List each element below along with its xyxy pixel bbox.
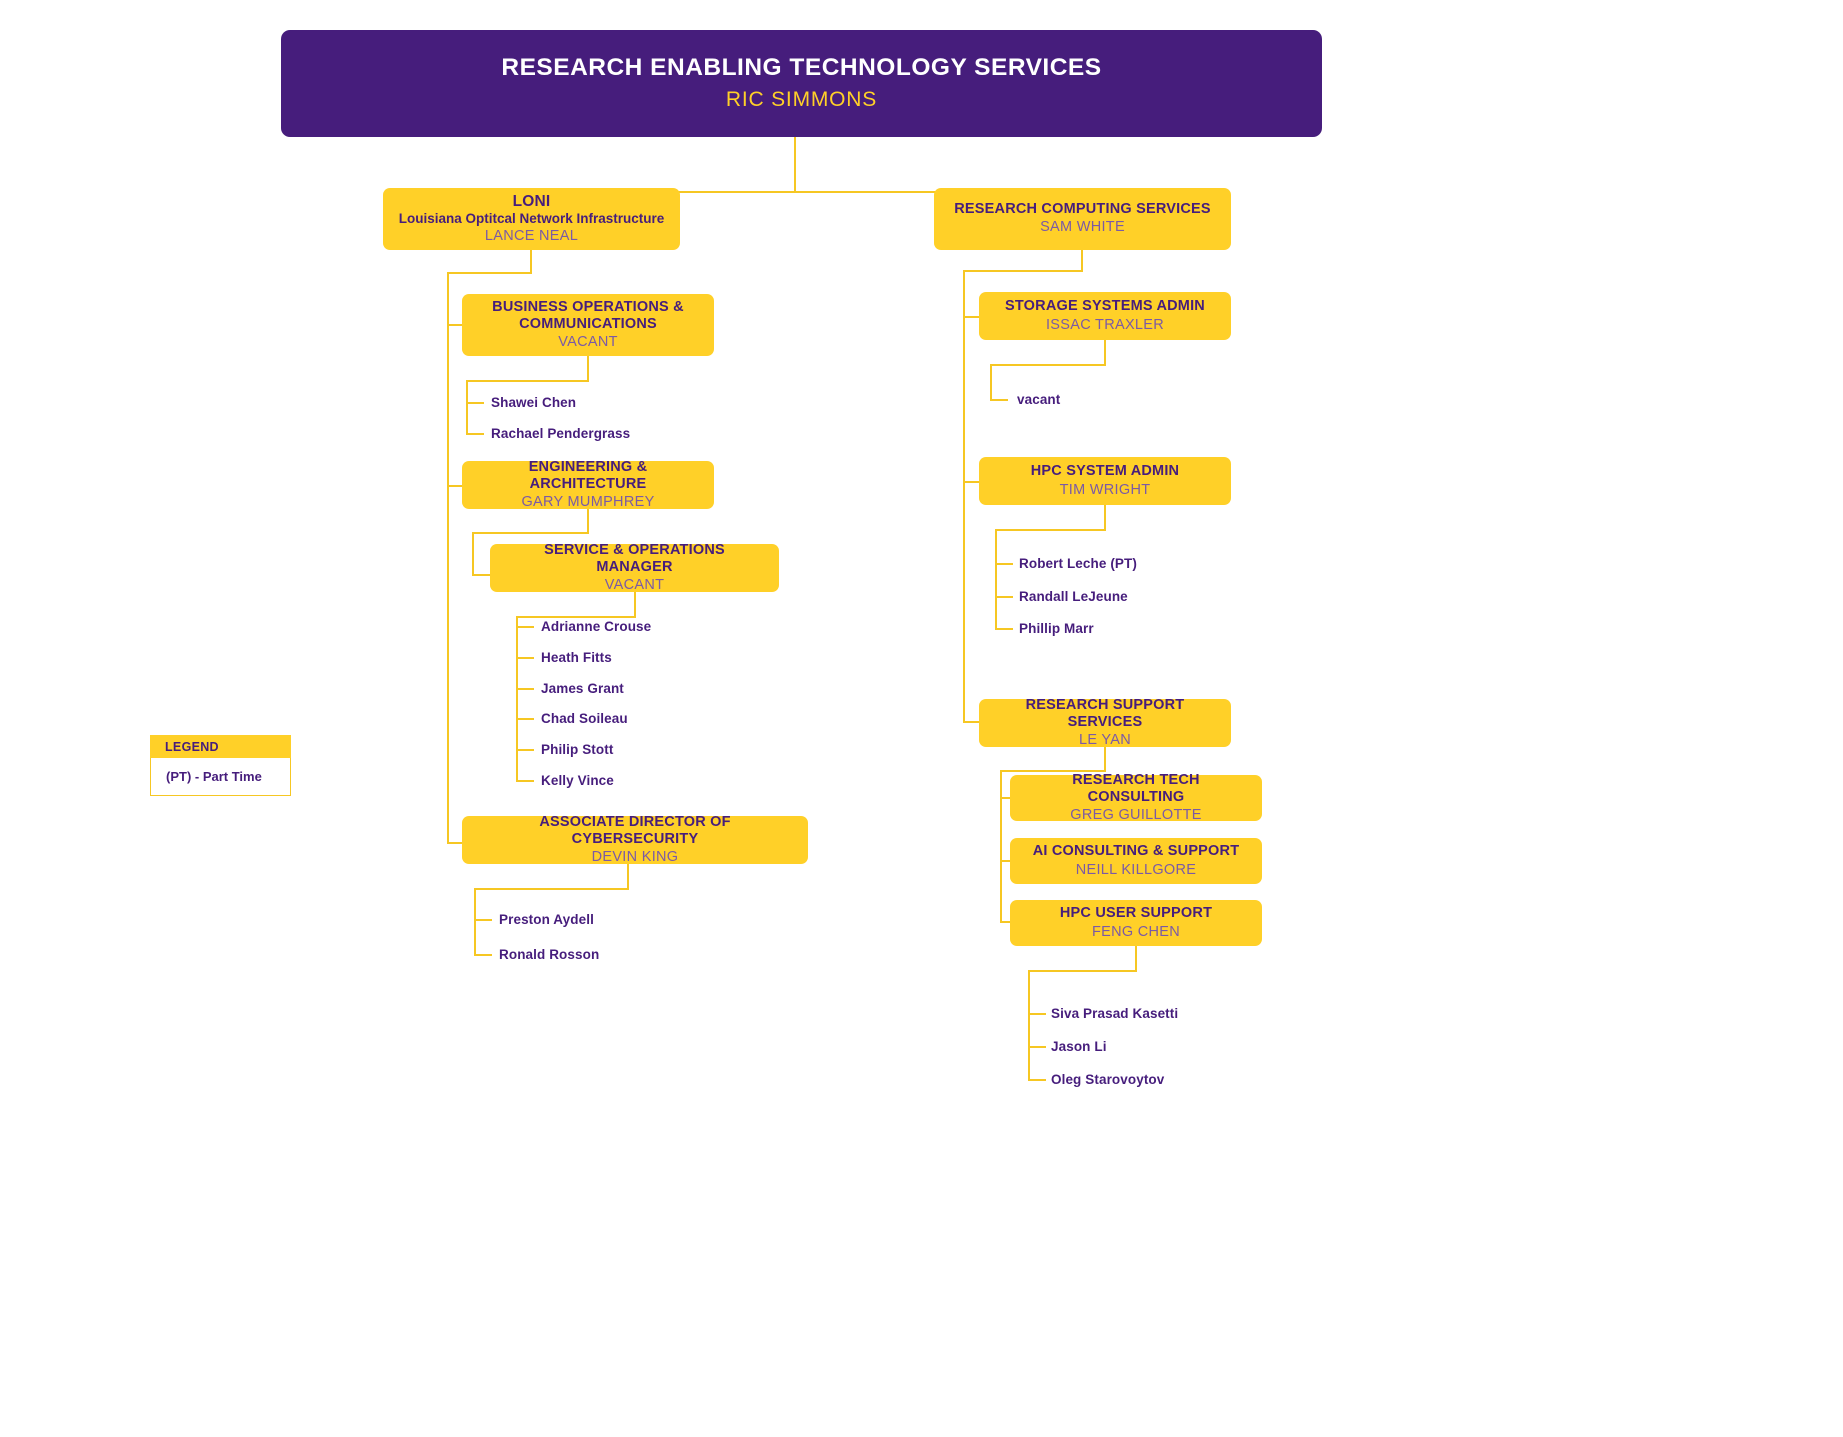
connector-hpcus-leaf-1 [1028,1046,1046,1048]
staff-label: Randall LeJeune [1019,589,1128,604]
storage-title: STORAGE SYSTEMS ADMIN [1005,298,1205,315]
node-research-support-services[interactable]: RESEARCH SUPPORT SERVICES LE YAN [979,699,1231,747]
connector-loni-spine [447,272,449,844]
connector-hpcadmin-spine [995,529,997,630]
connector-eng-drop [587,509,589,533]
staff-label: Oleg Starovoytov [1051,1072,1164,1087]
staff-label: Ronald Rosson [499,947,599,962]
connector-hpcadmin-leaf-2 [995,628,1013,630]
research-support-title: RESEARCH SUPPORT SERVICES [993,697,1217,731]
connector-hpcus-leaf-0 [1028,1013,1046,1015]
connector-storage-leaf-0 [990,399,1008,401]
node-engineering-architecture[interactable]: ENGINEERING & ARCHITECTURE GARY MUMPHREY [462,461,714,509]
staff-label: Robert Leche (PT) [1019,556,1137,571]
connector-loni-spine-top [447,272,532,274]
loni-person: LANCE NEAL [485,227,578,245]
connector-rcs-spine-top [963,270,1083,272]
node-business-operations-communications[interactable]: BUSINESS OPERATIONS & COMMUNICATIONS VAC… [462,294,714,356]
research-support-person: LE YAN [1079,731,1131,749]
connector-rcs-drop [1081,250,1083,272]
connector-cyber-drop [627,864,629,889]
connector-root-stem [794,137,796,192]
bizops-title: BUSINESS OPERATIONS & COMMUNICATIONS [476,299,700,333]
staff-label: Rachael Pendergrass [491,426,630,441]
connector-rss-drop [1104,747,1106,771]
node-loni[interactable]: LONI Louisiana Optitcal Network Infrastr… [383,188,680,250]
research-tech-consulting-person: GREG GUILLOTTE [1070,806,1202,824]
hpc-admin-title: HPC SYSTEM ADMIN [1031,463,1179,480]
rcs-person: SAM WHITE [1040,218,1125,236]
connector-svcops-bus [516,616,636,618]
connector-cyber-leaf-0 [474,919,492,921]
connector-svcops-leaf-4 [516,749,534,751]
node-service-operations-manager[interactable]: SERVICE & OPERATIONS MANAGER VACANT [490,544,779,592]
node-hpc-user-support[interactable]: HPC USER SUPPORT FENG CHEN [1010,900,1262,946]
connector-svcops-leaf-5 [516,780,534,782]
ai-consulting-person: NEILL KILLGORE [1076,861,1197,879]
connector-hpcadmin-leaf-0 [995,563,1013,565]
connector-svcops-leaf-0 [516,626,534,628]
connector-cyber-bus [474,888,629,890]
cybersecurity-person: DEVIN KING [592,848,679,866]
connector-eng-to-svcops [472,574,492,576]
staff-label: Adrianne Crouse [541,619,651,634]
storage-person: ISSAC TRAXLER [1046,316,1164,334]
staff-label: Preston Aydell [499,912,594,927]
node-research-enabling-technology-services[interactable]: RESEARCH ENABLING TECHNOLOGY SERVICES RI… [281,30,1322,137]
node-research-tech-consulting[interactable]: RESEARCH TECH CONSULTING GREG GUILLOTTE [1010,775,1262,821]
connector-eng-spine [472,532,474,576]
connector-eng-bus [472,532,589,534]
loni-title: LONI [513,193,551,211]
connector-hpcadmin-bus [995,529,1106,531]
hpc-user-support-title: HPC USER SUPPORT [1060,905,1212,922]
svcops-person: VACANT [605,576,665,594]
connector-bizops-leaf-1 [466,433,484,435]
connector-hpcus-drop [1135,946,1137,971]
legend-heading-text: LEGEND [165,740,219,754]
connector-bizops-bus [466,380,589,382]
connector-storage-drop [1104,340,1106,365]
connector-rss-spine [1000,770,1002,923]
staff-label: Phillip Marr [1019,621,1094,636]
connector-hpcus-leaf-2 [1028,1079,1046,1081]
node-research-computing-services[interactable]: RESEARCH COMPUTING SERVICES SAM WHITE [934,188,1231,250]
hpc-user-support-person: FENG CHEN [1092,923,1180,941]
connector-svcops-leaf-3 [516,718,534,720]
staff-label: Siva Prasad Kasetti [1051,1006,1178,1021]
connector-bizops-leaf-0 [466,402,484,404]
staff-label: Chad Soileau [541,711,628,726]
root-person: RIC SIMMONS [726,87,877,113]
legend-header: LEGEND [150,735,291,758]
svcops-title: SERVICE & OPERATIONS MANAGER [504,542,765,576]
node-associate-director-of-cybersecurity[interactable]: ASSOCIATE DIRECTOR OF CYBERSECURITY DEVI… [462,816,808,864]
connector-loni-drop [530,250,532,274]
connector-svcops-leaf-2 [516,688,534,690]
legend-entry-part-time: (PT) - Part Time [166,769,262,784]
rcs-title: RESEARCH COMPUTING SERVICES [954,201,1211,218]
staff-label: Jason Li [1051,1039,1107,1054]
connector-bizops-drop [587,356,589,381]
engineering-title: ENGINEERING & ARCHITECTURE [476,459,700,493]
connector-svcops-spine [516,616,518,781]
ai-consulting-title: AI CONSULTING & SUPPORT [1033,843,1240,860]
connector-storage-spine [990,364,992,400]
staff-label: Kelly Vince [541,773,614,788]
org-chart-canvas: RESEARCH ENABLING TECHNOLOGY SERVICES RI… [0,0,1843,1437]
node-storage-systems-admin[interactable]: STORAGE SYSTEMS ADMIN ISSAC TRAXLER [979,292,1231,340]
staff-label: James Grant [541,681,624,696]
connector-svcops-leaf-1 [516,657,534,659]
research-tech-consulting-title: RESEARCH TECH CONSULTING [1024,772,1248,806]
root-title: RESEARCH ENABLING TECHNOLOGY SERVICES [501,54,1101,83]
node-ai-consulting-support[interactable]: AI CONSULTING & SUPPORT NEILL KILLGORE [1010,838,1262,884]
connector-hpcus-bus [1028,970,1137,972]
engineering-person: GARY MUMPHREY [521,493,654,511]
connector-hpcadmin-leaf-1 [995,596,1013,598]
connector-rcs-spine [963,270,965,722]
legend-body: (PT) - Part Time [150,758,291,796]
connector-cyber-leaf-1 [474,954,492,956]
staff-label: Philip Stott [541,742,613,757]
bizops-person: VACANT [558,333,618,351]
node-hpc-system-admin[interactable]: HPC SYSTEM ADMIN TIM WRIGHT [979,457,1231,505]
connector-svcops-drop [634,592,636,617]
connector-cyber-spine [474,888,476,956]
hpc-admin-person: TIM WRIGHT [1060,481,1151,499]
staff-label: vacant [1017,392,1060,407]
staff-label: Shawei Chen [491,395,576,410]
loni-subtitle: Louisiana Optitcal Network Infrastructur… [399,211,665,227]
connector-bizops-spine [466,380,468,435]
connector-storage-bus [990,364,1106,366]
cybersecurity-title: ASSOCIATE DIRECTOR OF CYBERSECURITY [476,814,794,848]
staff-label: Heath Fitts [541,650,612,665]
connector-hpcadmin-drop [1104,505,1106,530]
legend: LEGEND (PT) - Part Time [150,735,291,796]
connector-hpcus-spine [1028,970,1030,1080]
